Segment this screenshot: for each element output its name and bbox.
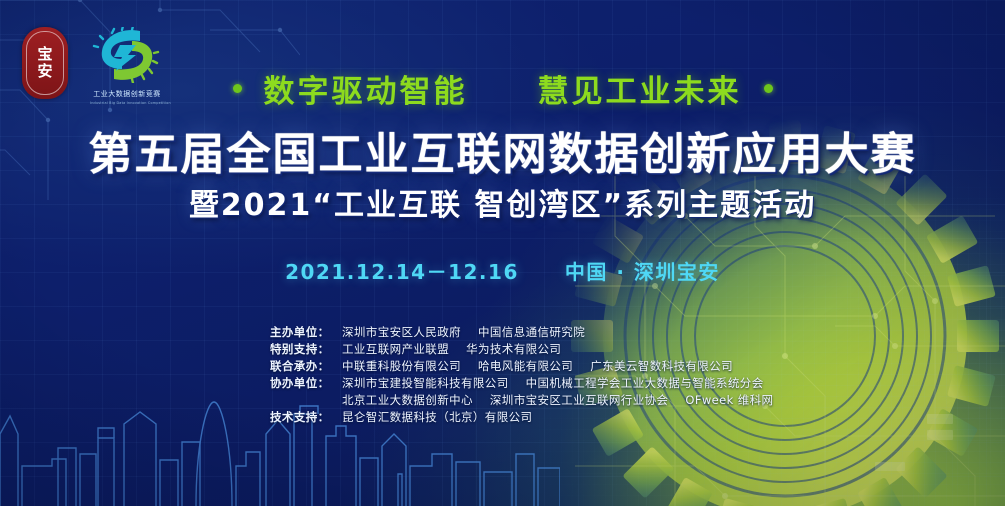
credit-line-special-support: 特别支持： 工业互联网产业联盟 华为技术有限公司 [270,341,773,358]
credit-value: 工业互联网产业联盟 [342,341,449,358]
credit-values: 深圳市宝安区人民政府 中国信息通信研究院 [342,324,585,341]
credit-values: 昆仑智汇数据科技（北京）有限公司 [342,409,532,426]
credit-line-support-unit: 协办单位： 深圳市宝建投智能科技有限公司 中国机械工程学会工业大数据与智能系统分… [270,375,773,392]
credit-label: 技术支持： [270,409,342,426]
event-date: 2021.12.14－12.16 [285,256,519,285]
credit-value: OFweek 维科网 [685,392,773,409]
bullet-dot-left-icon [233,84,242,93]
credit-line-support-unit-cont: 北京工业大数据创新中心 深圳市宝安区工业互联网行业协会 OFweek 维科网 [270,392,773,409]
tagline-left: 数字驱动智能 [264,66,468,111]
credit-values: 工业互联网产业联盟 华为技术有限公司 [342,341,561,358]
credit-value: 中国机械工程学会工业大数据与智能系统分会 [526,375,764,392]
credit-line-organizer: 主办单位： 深圳市宝安区人民政府 中国信息通信研究院 [270,324,773,341]
credit-value: 广东美云智数科技有限公司 [590,358,733,375]
credit-line-tech-support: 技术支持： 昆仑智汇数据科技（北京）有限公司 [270,409,773,426]
credit-values: 中联重科股份有限公司 哈电风能有限公司 广东美云智数科技有限公司 [342,358,733,375]
event-poster: 宝 安 [0,0,1005,506]
event-info-row: 2021.12.14－12.16 中国 · 深圳宝安 [0,256,1005,285]
event-location: 中国 · 深圳宝安 [565,256,720,285]
seal-glyph-top: 宝 [37,47,52,62]
credit-value: 昆仑智汇数据科技（北京）有限公司 [342,409,532,426]
credit-value: 中联重科股份有限公司 [342,358,461,375]
sub-title: 暨2021“工业互联 智创湾区”系列主题活动 [0,180,1005,224]
tagline-row: 数字驱动智能 慧见工业未来 [0,66,1005,111]
bullet-dot-right-icon [764,84,773,93]
credit-line-co-host: 联合承办： 中联重科股份有限公司 哈电风能有限公司 广东美云智数科技有限公司 [270,358,773,375]
credits-block: 主办单位： 深圳市宝安区人民政府 中国信息通信研究院 特别支持： 工业互联网产业… [270,324,773,426]
credit-value: 华为技术有限公司 [466,341,561,358]
credit-label: 协办单位： [270,375,342,392]
credit-label: 主办单位： [270,324,342,341]
credit-value: 深圳市宝建投智能科技有限公司 [342,375,509,392]
credit-value: 北京工业大数据创新中心 [342,392,473,409]
credit-values: 北京工业大数据创新中心 深圳市宝安区工业互联网行业协会 OFweek 维科网 [342,392,773,409]
credit-value: 中国信息通信研究院 [478,324,585,341]
credit-value: 深圳市宝安区工业互联网行业协会 [490,392,669,409]
credit-values: 深圳市宝建投智能科技有限公司 中国机械工程学会工业大数据与智能系统分会 [342,375,764,392]
credit-value: 深圳市宝安区人民政府 [342,324,461,341]
tagline-right: 慧见工业未来 [538,66,742,111]
credit-label: 特别支持： [270,341,342,358]
credit-label: 联合承办： [270,358,342,375]
main-title: 第五届全国工业互联网数据创新应用大赛 [0,118,1005,182]
credit-value: 哈电风能有限公司 [478,358,573,375]
